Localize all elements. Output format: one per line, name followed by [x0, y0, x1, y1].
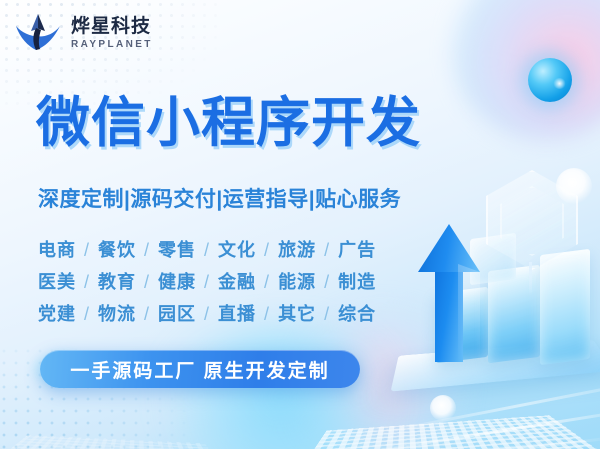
category-row: 电商 / 餐饮 / 零售 / 文化 / 旅游 / 广告 — [38, 236, 376, 262]
category-separator: / — [136, 240, 158, 260]
category-separator: / — [316, 272, 338, 292]
category-separator: / — [256, 240, 278, 260]
brand-name-en: RAYPLANET — [71, 40, 153, 50]
promo-banner: 烨星科技 RAYPLANET 微信小程序开发 深度定制|源码交付|运营指导|贴心… — [0, 0, 600, 449]
category-separator: / — [196, 240, 218, 260]
page-title: 微信小程序开发 — [36, 94, 421, 153]
category-separator: / — [76, 240, 98, 260]
hexagon-stem — [529, 262, 532, 296]
category-separator: / — [316, 240, 338, 260]
category-item[interactable]: 医美 — [38, 272, 76, 292]
category-item[interactable]: 其它 — [278, 304, 316, 324]
category-item[interactable]: 直播 — [218, 304, 256, 324]
category-separator: / — [316, 304, 338, 324]
category-row: 党建 / 物流 / 园区 / 直播 / 其它 / 综合 — [38, 300, 376, 326]
cta-button-label: 一手源码工厂 原生开发定制 — [70, 356, 329, 383]
hero-subtitle: 深度定制|源码交付|运营指导|贴心服务 — [38, 183, 401, 213]
category-item[interactable]: 制造 — [338, 272, 376, 292]
category-item[interactable]: 零售 — [158, 240, 196, 260]
crystal-bar-3 — [540, 249, 590, 365]
star-swoosh-logo-icon — [14, 12, 62, 52]
category-item[interactable]: 健康 — [158, 272, 196, 292]
cta-button[interactable]: 一手源码工厂 原生开发定制 — [40, 350, 360, 388]
category-item[interactable]: 园区 — [158, 304, 196, 324]
category-separator: / — [256, 272, 278, 292]
up-arrow-3d-icon — [418, 224, 480, 362]
category-item[interactable]: 综合 — [338, 304, 376, 324]
category-item[interactable]: 金融 — [218, 272, 256, 292]
category-item[interactable]: 广告 — [338, 240, 376, 260]
gradient-blob-top-right — [450, 0, 600, 140]
category-separator: / — [256, 304, 278, 324]
category-separator: / — [76, 304, 98, 324]
category-separator: / — [196, 272, 218, 292]
category-item[interactable]: 能源 — [278, 272, 316, 292]
category-separator: / — [136, 272, 158, 292]
brand-logo-text: 烨星科技 RAYPLANET — [71, 15, 153, 50]
glow-dot-icon — [556, 168, 592, 204]
category-row: 医美 / 教育 / 健康 / 金融 / 能源 / 制造 — [38, 268, 376, 294]
category-item[interactable]: 电商 — [38, 240, 76, 260]
category-list: 电商 / 餐饮 / 零售 / 文化 / 旅游 / 广告 医美 / 教育 / 健康… — [38, 236, 376, 326]
brand-name-cn: 烨星科技 — [71, 17, 153, 36]
blue-sphere-icon — [528, 58, 572, 102]
category-item[interactable]: 物流 — [98, 304, 136, 324]
category-item[interactable]: 文化 — [218, 240, 256, 260]
category-item[interactable]: 旅游 — [278, 240, 316, 260]
category-item[interactable]: 餐饮 — [98, 240, 136, 260]
category-separator: / — [136, 304, 158, 324]
arrow-head — [418, 224, 480, 272]
category-item[interactable]: 教育 — [98, 272, 136, 292]
category-separator: / — [76, 272, 98, 292]
brand-logo[interactable]: 烨星科技 RAYPLANET — [14, 12, 153, 52]
category-separator: / — [196, 304, 218, 324]
category-item[interactable]: 党建 — [38, 304, 76, 324]
